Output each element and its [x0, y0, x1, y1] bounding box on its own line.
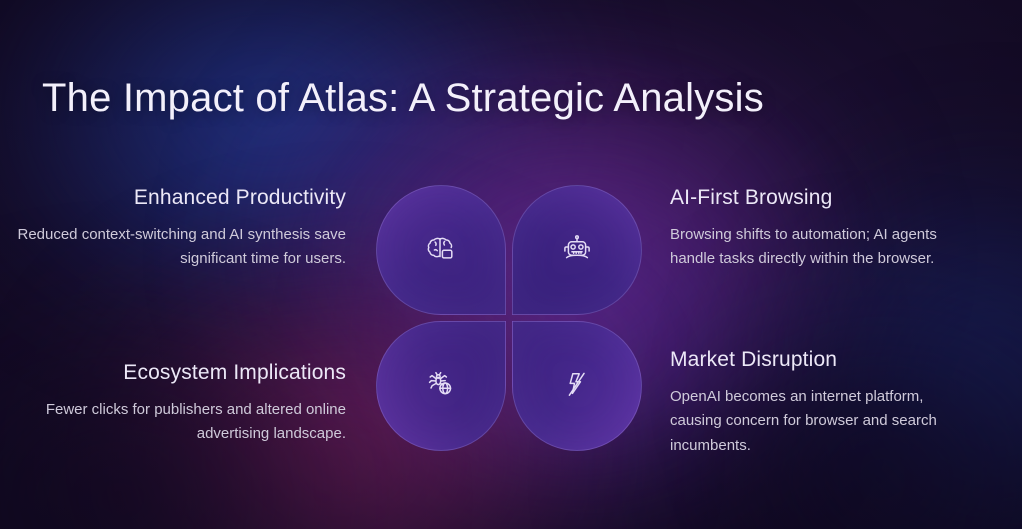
lightning-slash-icon — [560, 369, 594, 403]
petal-enhanced-productivity[interactable] — [376, 185, 506, 315]
quadrant-text-market-disruption: Market Disruption OpenAI becomes an inte… — [670, 348, 970, 458]
quadrant-text-ecosystem-implications: Ecosystem Implications Fewer clicks for … — [16, 361, 346, 447]
quadrant-heading-ecosystem-implications: Ecosystem Implications — [16, 361, 346, 385]
quadrant-body-ai-first-browsing: Browsing shifts to automation; AI agents… — [670, 223, 970, 272]
spider-globe-crawler-icon — [424, 369, 458, 403]
petal-cluster-diagram — [376, 185, 642, 451]
robot-icon — [560, 233, 594, 267]
quadrant-heading-enhanced-productivity: Enhanced Productivity — [16, 186, 346, 210]
brain-window-icon — [424, 233, 458, 267]
petal-ecosystem-implications[interactable] — [376, 321, 506, 451]
quadrant-body-market-disruption: OpenAI becomes an internet platform, cau… — [670, 385, 970, 458]
quadrant-body-ecosystem-implications: Fewer clicks for publishers and altered … — [16, 398, 346, 447]
page-title: The Impact of Atlas: A Strategic Analysi… — [42, 76, 764, 121]
quadrant-text-ai-first-browsing: AI-First Browsing Browsing shifts to aut… — [670, 186, 970, 272]
petal-ai-first-browsing[interactable] — [512, 185, 642, 315]
quadrant-body-enhanced-productivity: Reduced context-switching and AI synthes… — [16, 223, 346, 272]
quadrant-text-enhanced-productivity: Enhanced Productivity Reduced context-sw… — [16, 186, 346, 272]
quadrant-heading-market-disruption: Market Disruption — [670, 348, 970, 372]
slide-canvas: The Impact of Atlas: A Strategic Analysi… — [0, 0, 1022, 529]
petal-market-disruption[interactable] — [512, 321, 642, 451]
quadrant-heading-ai-first-browsing: AI-First Browsing — [670, 186, 970, 210]
